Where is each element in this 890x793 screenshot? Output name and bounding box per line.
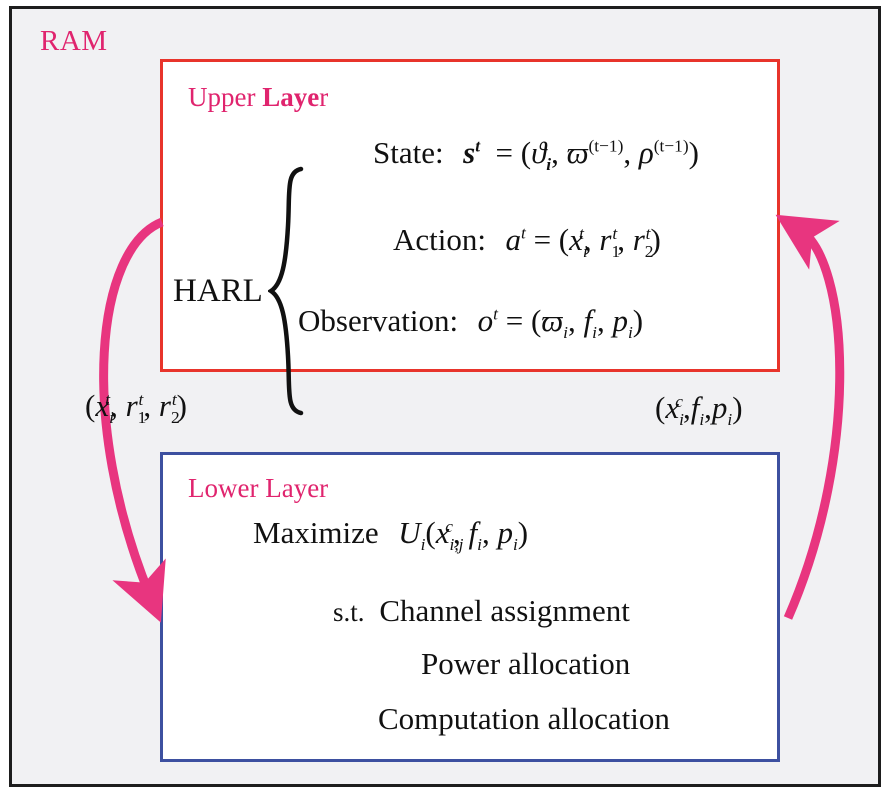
ram-label: RAM <box>40 27 108 56</box>
upper-title-part1: Upper <box>188 82 262 112</box>
lower-layer-title: Lower Layer <box>188 475 328 502</box>
st-prefix: s.t. <box>333 597 365 627</box>
objective-row: Maximize Ui(xi,jc, fi, pi) <box>253 517 528 554</box>
harl-label: HARL <box>173 275 263 308</box>
upper-layer-title: Upper Layer <box>188 84 328 111</box>
upper-title-part2: Laye <box>262 82 319 112</box>
constraint-label-0: Channel assignment <box>379 593 630 628</box>
observation-row: Observation: ot = (ϖi, fi, pi) <box>298 305 643 342</box>
edge-label-up: (xic,fi,pi) <box>655 392 743 429</box>
constraint-row-1: Power allocation <box>421 648 630 679</box>
edge-label-down: (xit, r1t, r2t) <box>85 390 187 427</box>
action-label: Action: <box>393 222 486 257</box>
upper-layer-box: Upper Layer HARL State: st = (ϑi, ϖ(t−1)… <box>160 59 780 372</box>
state-row: State: st = (ϑi, ϖ(t−1), ρ(t−1)) <box>373 137 699 174</box>
objective-formula: Ui(xi,jc, fi, pi) <box>383 515 528 550</box>
upper-title-part3: r <box>319 82 328 112</box>
observation-label: Observation: <box>298 303 458 338</box>
lower-layer-box: Lower Layer Maximize Ui(xi,jc, fi, pi) s… <box>160 452 780 762</box>
diagram-canvas: RAM Upper Layer HARL State: st = (ϑi, ϖ(… <box>0 0 890 793</box>
state-label: State: <box>373 135 444 170</box>
state-formula: st = (ϑi, ϖ(t−1), ρ(t−1)) <box>448 135 699 170</box>
observation-formula: ot = (ϖi, fi, pi) <box>462 303 643 338</box>
constraint-label-2: Computation allocation <box>378 701 670 736</box>
constraint-row-2: Computation allocation <box>378 703 670 734</box>
constraint-row-0: s.t. Channel assignment <box>333 595 630 626</box>
constraint-label-1: Power allocation <box>421 646 630 681</box>
action-formula: at = (xit, r1t, r2t) <box>490 222 661 257</box>
action-row: Action: at = (xit, r1t, r2t) <box>393 224 661 261</box>
maximize-label: Maximize <box>253 515 379 550</box>
